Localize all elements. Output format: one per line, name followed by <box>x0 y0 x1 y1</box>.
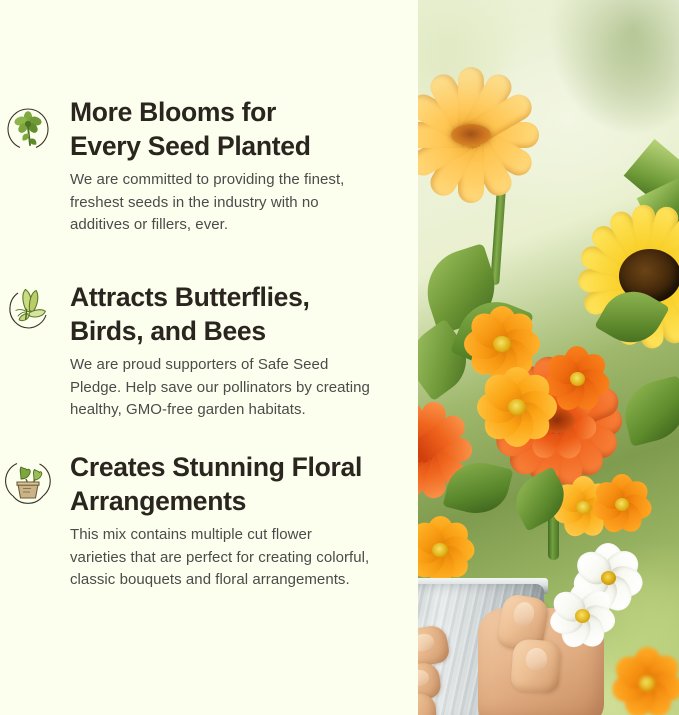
feature-title: More Blooms for Every Seed Planted <box>70 95 400 163</box>
potted-plant-icon <box>4 456 52 504</box>
feature-description: We are proud supporters of Safe Seed Ple… <box>70 354 400 422</box>
feature-text: Creates Stunning Floral Arrangements Thi… <box>70 450 418 592</box>
cosmos-white-flower <box>544 578 620 654</box>
product-feature-page: More Blooms for Every Seed Planted We ar… <box>0 0 679 715</box>
feature-item-floral-arrangements: Creates Stunning Floral Arrangements Thi… <box>0 450 418 592</box>
cosmos-orange-flower <box>470 360 564 454</box>
feature-text: More Blooms for Every Seed Planted We ar… <box>70 95 418 237</box>
product-photo <box>418 0 679 715</box>
feature-description: We are committed to providing the finest… <box>70 169 400 237</box>
photo-soft-haze <box>418 0 679 120</box>
feature-title: Attracts Butterflies, Birds, and Bees <box>70 280 400 348</box>
feature-title: Creates Stunning Floral Arrangements <box>70 450 400 518</box>
feature-text: Attracts Butterflies, Birds, and Bees We… <box>70 280 418 422</box>
feature-item-attracts-pollinators: Attracts Butterflies, Birds, and Bees We… <box>0 280 418 422</box>
features-panel: More Blooms for Every Seed Planted We ar… <box>0 0 418 715</box>
flower-icon <box>4 105 52 153</box>
feature-item-more-blooms: More Blooms for Every Seed Planted We ar… <box>0 95 418 237</box>
feature-description: This mix contains multiple cut flower va… <box>70 524 400 592</box>
flower-bud <box>547 519 563 539</box>
butterfly-icon <box>4 285 52 333</box>
cosmos-orange-flower <box>586 468 658 540</box>
